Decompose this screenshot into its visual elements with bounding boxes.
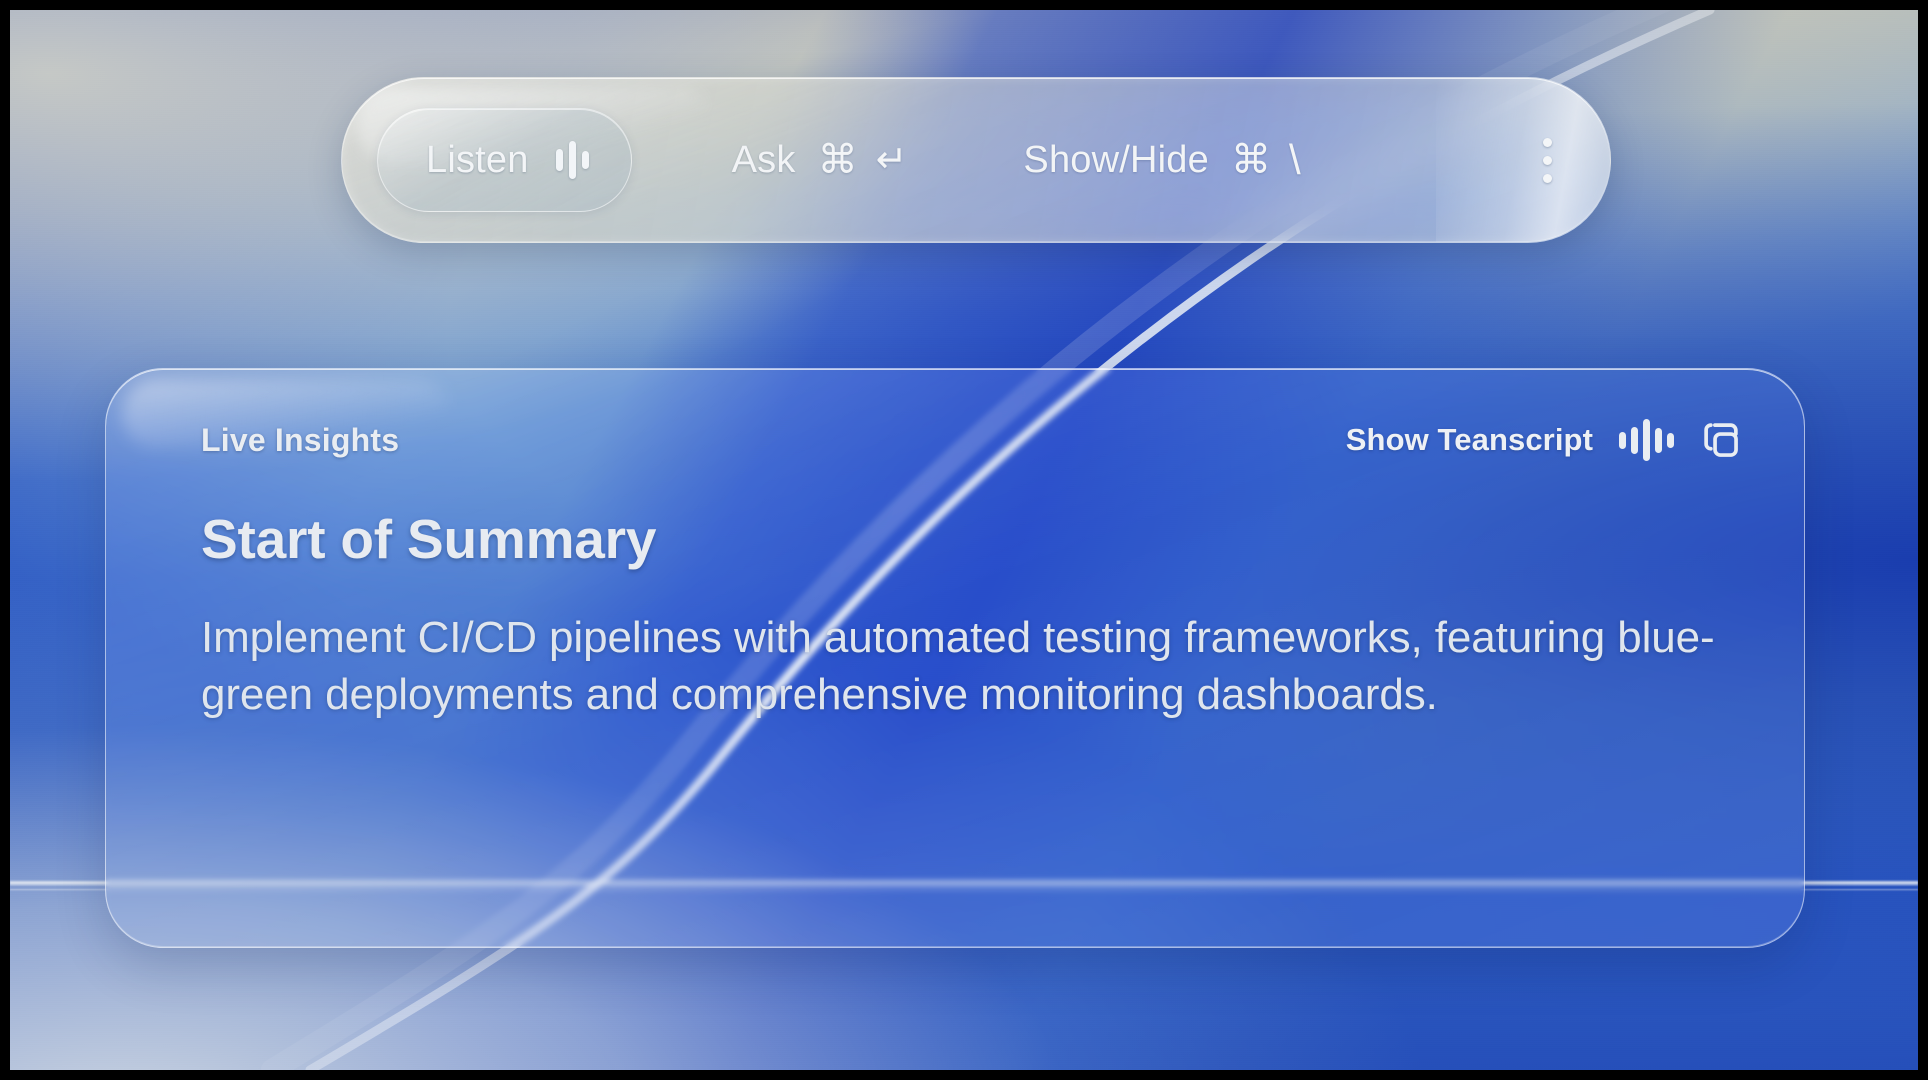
command-key-icon: ⌘ (818, 140, 858, 180)
ask-label: Ask (732, 139, 796, 182)
listen-label: Listen (426, 139, 529, 182)
backslash-key-icon: \ (1289, 139, 1301, 181)
summary-heading: Start of Summary (201, 507, 1742, 571)
screen: Listen Ask ⌘ ↵ Show/Hide ⌘ \ (10, 10, 1918, 1070)
show-hide-label: Show/Hide (1023, 139, 1209, 182)
kebab-menu-icon[interactable] (1525, 122, 1570, 199)
show-hide-button[interactable]: Show/Hide ⌘ \ (1013, 108, 1310, 212)
show-hide-shortcut: ⌘ \ (1231, 139, 1301, 181)
live-insights-panel: Live Insights Show Teanscript (105, 368, 1805, 948)
ask-shortcut: ⌘ ↵ (818, 140, 908, 180)
waveform-icon (556, 140, 589, 180)
waveform-icon[interactable] (1619, 419, 1674, 461)
copy-icon[interactable] (1700, 419, 1742, 461)
panel-header-actions: Show Teanscript (1346, 419, 1742, 461)
floating-toolbar: Listen Ask ⌘ ↵ Show/Hide ⌘ \ (341, 77, 1611, 243)
page-title: Live Insights (201, 422, 399, 459)
return-key-icon: ↵ (876, 141, 908, 179)
panel-header: Live Insights Show Teanscript (201, 419, 1742, 461)
command-key-icon: ⌘ (1231, 140, 1271, 180)
summary-body-text: Implement CI/CD pipelines with automated… (201, 609, 1721, 723)
ask-button[interactable]: Ask ⌘ ↵ (722, 108, 918, 212)
listen-button[interactable]: Listen (377, 108, 632, 212)
show-transcript-button[interactable]: Show Teanscript (1346, 422, 1593, 458)
